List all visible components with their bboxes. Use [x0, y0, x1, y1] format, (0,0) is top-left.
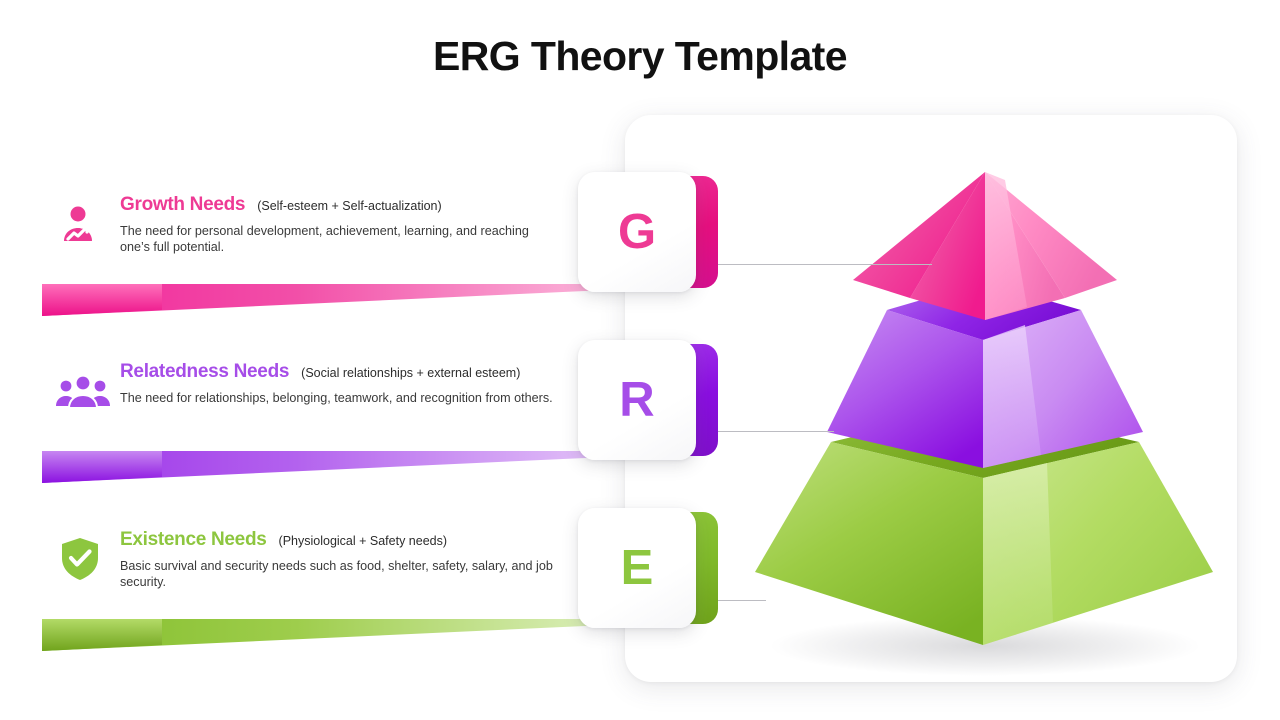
connector-line-growth	[718, 264, 932, 265]
level-description-existence: Basic survival and security needs such a…	[120, 558, 560, 591]
connector-line-relatedness	[718, 431, 834, 432]
letter-card-glyph-relatedness: R	[619, 376, 654, 425]
level-heading-line-existence: Existence Needs(Physiological + Safety n…	[120, 529, 447, 551]
level-heading-growth: Growth Needs	[120, 194, 245, 216]
letter-card-relatedness[interactable]: R	[578, 340, 718, 460]
letter-card-face-relatedness[interactable]: R	[578, 340, 696, 460]
level-subtitle-existence: (Physiological + Safety needs)	[279, 534, 448, 548]
level-heading-line-relatedness: Relatedness Needs(Social relationships +…	[120, 361, 520, 383]
letter-card-face-growth[interactable]: G	[578, 172, 696, 292]
letter-card-glyph-growth: G	[618, 208, 656, 257]
ribbon-relatedness	[42, 448, 607, 488]
pyramid-tier-existence-left	[755, 442, 983, 645]
erg-pyramid-diagram	[735, 150, 1235, 680]
level-subtitle-relatedness: (Social relationships + external esteem)	[301, 366, 520, 380]
person-growth-icon	[55, 203, 101, 249]
letter-card-growth[interactable]: G	[578, 172, 718, 292]
page-title: ERG Theory Template	[0, 33, 1280, 80]
shield-check-icon	[57, 536, 103, 582]
letter-card-existence[interactable]: E	[578, 508, 718, 628]
level-heading-line-growth: Growth Needs(Self-esteem + Self-actualiz…	[120, 194, 442, 216]
level-heading-existence: Existence Needs	[120, 529, 267, 551]
ribbon-growth	[42, 281, 607, 321]
letter-card-face-existence[interactable]: E	[578, 508, 696, 628]
slide-canvas: ERG Theory Template	[0, 0, 1280, 720]
letter-card-glyph-existence: E	[621, 544, 654, 593]
people-group-icon	[55, 370, 111, 416]
level-description-relatedness: The need for relationships, belonging, t…	[120, 390, 560, 406]
ribbon-existence	[42, 616, 607, 656]
connector-line-existence	[718, 600, 766, 601]
pyramid-tier-existence-highlight	[983, 463, 1053, 645]
level-heading-relatedness: Relatedness Needs	[120, 361, 289, 383]
level-description-growth: The need for personal development, achie…	[120, 223, 560, 256]
level-subtitle-growth: (Self-esteem + Self-actualization)	[257, 199, 441, 213]
